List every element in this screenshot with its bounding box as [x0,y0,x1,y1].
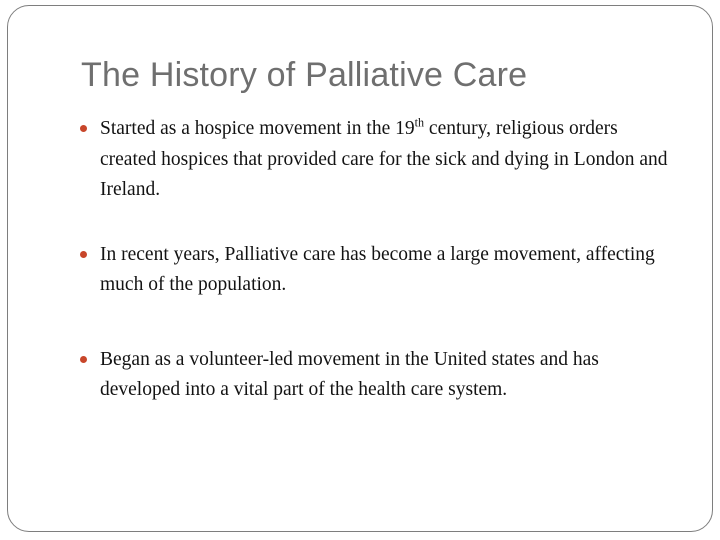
bullet-dot-icon [80,251,87,258]
list-item: Started as a hospice movement in the 19t… [78,114,678,206]
bullet-dot-icon [80,356,87,363]
list-item-text: Started as a hospice movement in the 19t… [100,114,678,206]
list-item: In recent years, Palliative care has bec… [78,240,678,301]
list-item-text-part-1: Started as a hospice movement in the 19 [100,118,415,139]
bullet-list: Started as a hospice movement in the 19t… [78,114,678,406]
list-item: Began as a volunteer-led movement in the… [78,345,678,406]
list-item-text: Began as a volunteer-led movement in the… [100,345,678,406]
ordinal-suffix: th [415,116,424,130]
page-title: The History of Palliative Care [81,56,527,95]
list-item-text: In recent years, Palliative care has bec… [100,240,678,301]
bullet-dot-icon [80,125,87,132]
presentation-slide: The History of Palliative Care Started a… [0,0,720,540]
